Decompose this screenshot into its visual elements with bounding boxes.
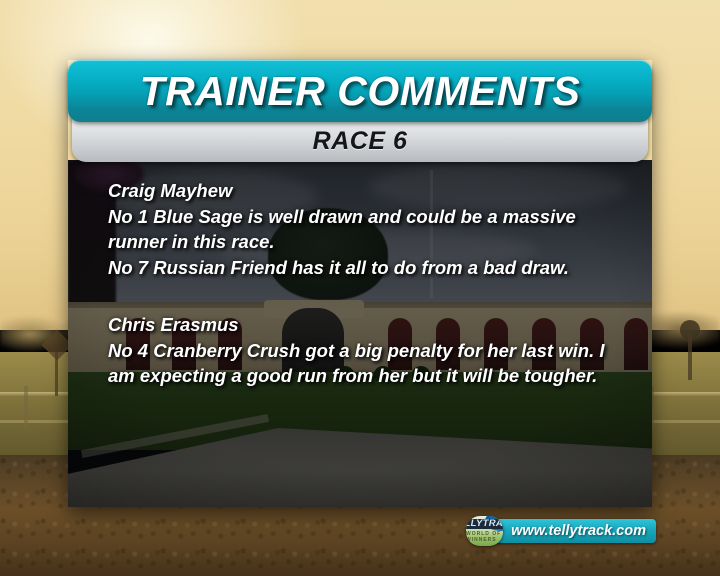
website-url-text: www.tellytrack.com xyxy=(511,523,646,539)
panel-title-bar: TRAINER COMMENTS xyxy=(68,60,652,122)
background-distance-marker-post xyxy=(55,352,58,396)
broadcaster-watermark: TELLYTRACK WORLD OF WINNERS www.tellytra… xyxy=(466,515,656,547)
background-round-sign-pole xyxy=(688,330,692,380)
background-rail-post xyxy=(24,386,28,428)
comment-spacer xyxy=(108,290,628,312)
website-url-bar: www.tellytrack.com xyxy=(495,519,656,543)
trainer-comments-list: Craig Mayhew No 1 Blue Sage is well draw… xyxy=(108,178,628,399)
panel-photo-background: Craig Mayhew No 1 Blue Sage is well draw… xyxy=(68,160,652,507)
broadcast-graphic-screen: Craig Mayhew No 1 Blue Sage is well draw… xyxy=(0,0,720,576)
trainer-comment-line: No 4 Cranberry Crush got a big penalty f… xyxy=(108,338,620,389)
trainer-comment-block: Chris Erasmus No 4 Cranberry Crush got a… xyxy=(108,312,628,389)
trainer-comment-block: Craig Mayhew No 1 Blue Sage is well draw… xyxy=(108,178,628,280)
race-subtitle-bar: RACE 6 xyxy=(72,116,648,162)
race-number-label: RACE 6 xyxy=(313,127,408,156)
tellytrack-logo-icon: TELLYTRACK WORLD OF WINNERS xyxy=(466,516,503,546)
trainer-comment-line: No 1 Blue Sage is well drawn and could b… xyxy=(108,204,620,255)
trainer-name: Craig Mayhew xyxy=(108,178,628,204)
logo-brand-text: TELLYTRACK xyxy=(466,519,503,529)
page-title: TRAINER COMMENTS xyxy=(140,68,581,115)
trainer-comments-panel: Craig Mayhew No 1 Blue Sage is well draw… xyxy=(68,60,652,507)
trainer-name: Chris Erasmus xyxy=(108,312,628,338)
logo-tagline-text: WORLD OF WINNERS xyxy=(466,531,503,543)
trainer-comment-line: No 7 Russian Friend has it all to do fro… xyxy=(108,255,628,281)
